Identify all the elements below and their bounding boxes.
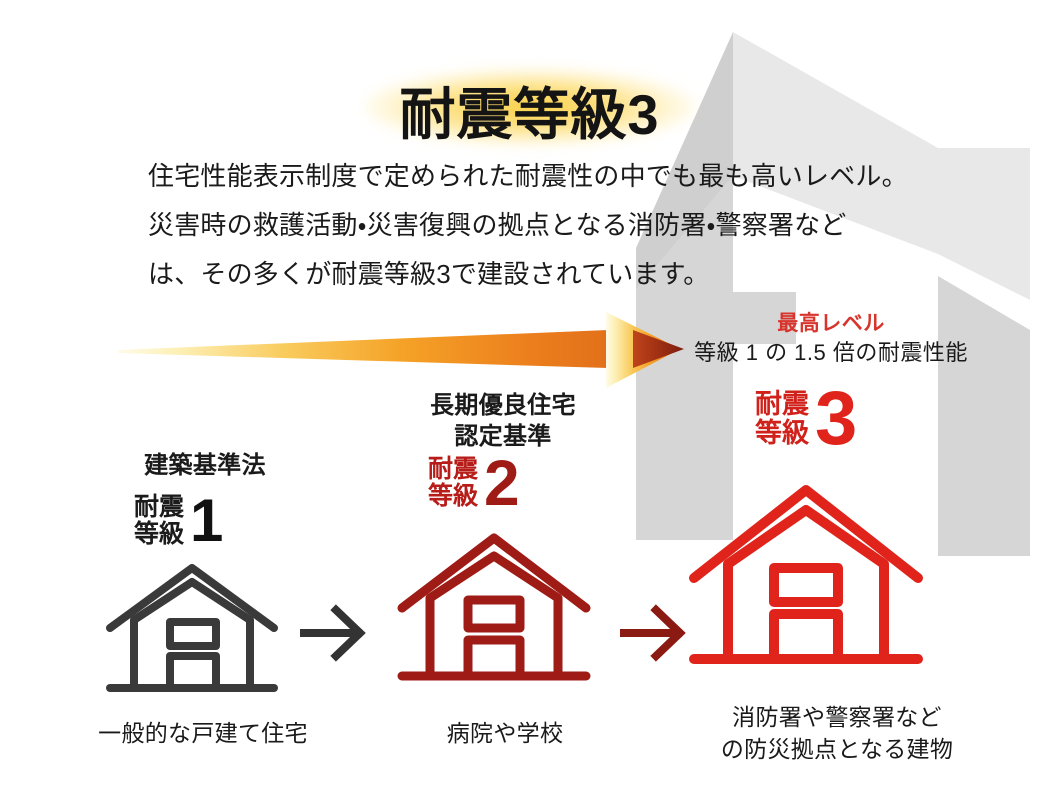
- grade-badge-2-number: 2: [484, 453, 520, 514]
- step-arrow-1-to-2-icon: [300, 602, 372, 662]
- grade-badge-3-kanji-bottom: 等級: [755, 419, 809, 448]
- caption-grade-3-line-2: の防災拠点となる建物: [692, 733, 982, 765]
- progression-arrow-large: [108, 306, 688, 392]
- arrow-shaft: [118, 330, 608, 368]
- house-1-door: [170, 656, 216, 684]
- caption-grade-1: 一般的な戸建て住宅: [78, 717, 328, 749]
- callout-headline: 最高レベル: [676, 310, 986, 338]
- house-3-window: [774, 568, 838, 602]
- category-heading-grade-1-line-1: 建築基準法: [90, 450, 320, 481]
- infographic-canvas: 耐震等級3 住宅性能表示制度で定められた耐震性の中でも最も高いレベル。 災害時の…: [0, 0, 1059, 800]
- house-3-door: [774, 614, 838, 654]
- grade-badge-2-kanji: 耐震 等級: [428, 456, 478, 510]
- grade-badge-1-kanji-top: 耐震: [134, 494, 184, 521]
- house-2-window: [468, 600, 520, 628]
- description-line-3: は、その多くが耐震等級3で建設されています。: [148, 250, 938, 299]
- max-level-callout: 最高レベル 等級 1 の 1.5 倍の耐震性能: [676, 310, 986, 368]
- page-title: 耐震等級3: [399, 86, 659, 145]
- house-icon-grade-1: [104, 552, 280, 698]
- caption-grade-3-line-1: 消防署や警察署など: [692, 701, 982, 733]
- grade-badge-1-kanji-bottom: 等級: [134, 521, 184, 548]
- grade-badge-3: 耐震 等級 3: [755, 383, 857, 455]
- caption-grade-2: 病院や学校: [390, 717, 620, 749]
- arrow-head: [606, 312, 680, 388]
- description-paragraph: 住宅性能表示制度で定められた耐震性の中でも最も高いレベル。 災害時の救護活動・災…: [148, 152, 938, 299]
- grade-badge-3-kanji-top: 耐震: [755, 390, 809, 419]
- grade-badge-3-number: 3: [815, 383, 857, 455]
- grade-badge-1: 耐震 等級 1: [134, 492, 223, 549]
- caption-grade-3: 消防署や警察署など の防災拠点となる建物: [692, 701, 982, 765]
- description-line-2: 災害時の救護活動・災害復興の拠点となる消防署・警察署など: [148, 201, 938, 250]
- grade-badge-1-kanji: 耐震 等級: [134, 494, 184, 548]
- category-heading-grade-2-line-1: 長期優良住宅: [388, 390, 618, 421]
- house-icon-grade-2: [396, 522, 592, 688]
- grade-badge-3-kanji: 耐震 等級: [755, 390, 809, 448]
- step-arrow-2-to-3-icon: [620, 602, 692, 662]
- callout-subline: 等級 1 の 1.5 倍の耐震性能: [676, 338, 986, 368]
- house-2-door: [468, 640, 520, 672]
- grade-badge-2-kanji-top: 耐震: [428, 456, 478, 483]
- grade-badge-2: 耐震 等級 2: [428, 453, 520, 514]
- category-heading-grade-2: 長期優良住宅 認定基準: [388, 390, 618, 452]
- grade-badge-1-number: 1: [190, 492, 223, 549]
- grade-badge-2-kanji-bottom: 等級: [428, 483, 478, 510]
- description-line-1: 住宅性能表示制度で定められた耐震性の中でも最も高いレベル。: [148, 152, 938, 201]
- house-icon-grade-3: [686, 472, 926, 672]
- house-1-window: [170, 622, 216, 646]
- category-heading-grade-1: 建築基準法: [90, 450, 320, 481]
